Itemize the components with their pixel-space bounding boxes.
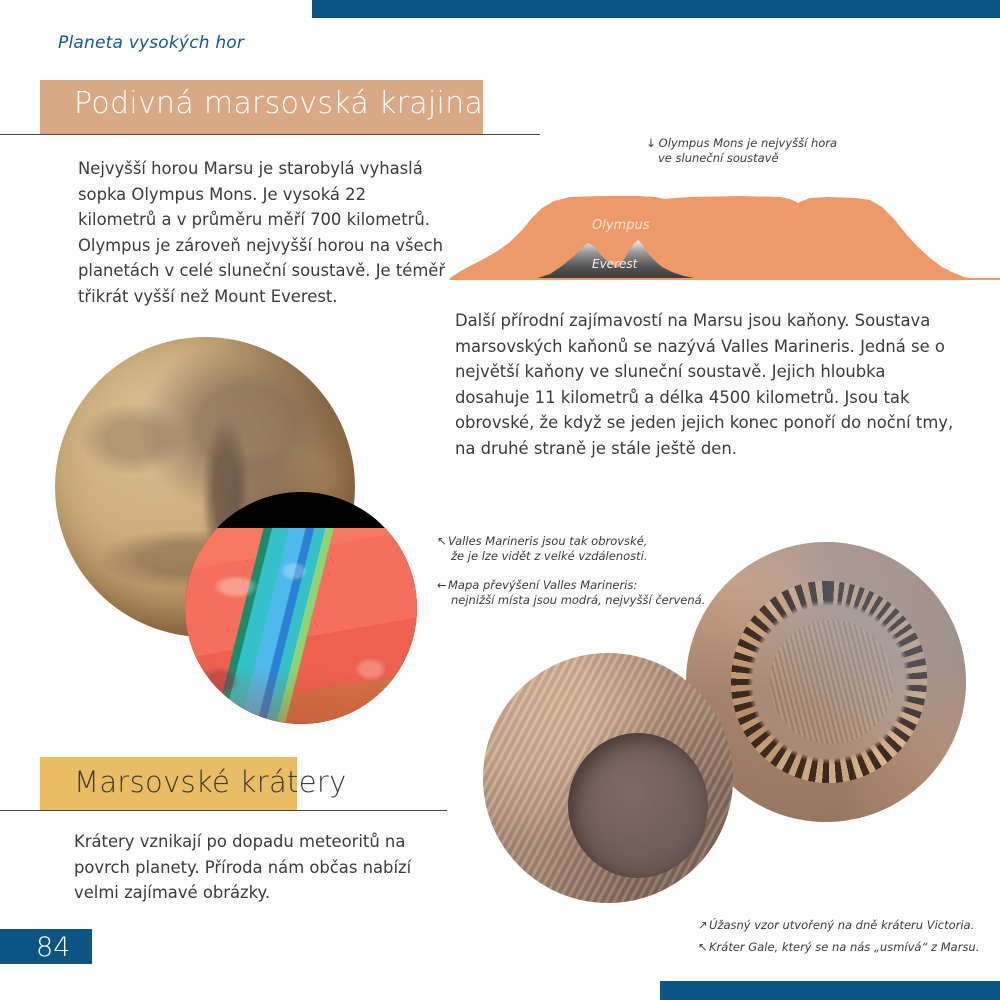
caption-crater-victoria: ↗Úžasný vzor utvořený na dně kráteru Vic… (698, 918, 974, 933)
top-blue-bar (312, 0, 1000, 18)
page-number: 84 (36, 932, 70, 963)
olympus-mountain-label: Olympus (592, 218, 649, 233)
section-heading-landscape: Podivná marsovská krajina (74, 86, 483, 121)
caption-valles-topomap: ←Mapa převýšení Valles Marineris: nejniž… (437, 578, 705, 607)
topo-map-surface (185, 528, 417, 724)
caption-valles-topomap-line2: nejnižší místa jsou modrá, nejvyšší červ… (437, 593, 705, 608)
running-head: Planeta vysokých hor (58, 33, 244, 53)
arrow-up-left-icon: ↖ (437, 534, 448, 549)
caption-valles-visibility: ↖Valles Marineris jsou tak obrovské, že … (437, 534, 648, 563)
olympus-caption-line1: Olympus Mons je nejvyšší hora (659, 136, 837, 150)
paragraph-canyons: Další přírodní zajímavostí na Marsu jsou… (455, 308, 955, 461)
olympus-caption-line2: ve sluneční soustavě (646, 151, 779, 165)
paragraph-craters: Krátery vznikají po dopadu meteoritů na … (74, 829, 454, 906)
crater-gale-basin (568, 733, 708, 878)
valles-marineris-topo-map-image (185, 492, 417, 724)
arrow-left-icon: ← (437, 578, 448, 593)
heading-rule-craters (0, 810, 447, 811)
caption-valles-topomap-line1: Mapa převýšení Valles Marineris: (448, 578, 637, 592)
bottom-blue-bar (660, 981, 1000, 1000)
heading-rule-landscape (0, 134, 540, 135)
arrow-up-right-icon: ↗ (698, 918, 709, 933)
arrow-down-icon: ↓ (646, 136, 656, 150)
crater-gale-image (483, 653, 733, 903)
olympus-mons-profile-diagram (450, 182, 1000, 280)
olympus-diagram-caption: ↓Olympus Mons je nejvyšší hora ve sluneč… (646, 136, 837, 165)
section-heading-craters: Marsovské krátery (74, 765, 347, 799)
caption-crater-gale: ↖Kráter Gale, který se na nás „usmívá“ z… (698, 940, 979, 955)
everest-mountain-label: Everest (592, 257, 637, 271)
caption-crater-gale-text: Kráter Gale, který se na nás „usmívá“ z … (709, 940, 979, 954)
arrow-up-left-icon-2: ↖ (698, 940, 709, 955)
caption-valles-visibility-line1: Valles Marineris jsou tak obrovské, (448, 534, 647, 548)
caption-valles-visibility-line2: že je lze vidět z velké vzdálenosti. (437, 549, 648, 564)
caption-crater-victoria-text: Úžasný vzor utvořený na dně kráteru Vict… (709, 918, 974, 932)
paragraph-olympus: Nejvyšší horou Marsu je starobylá vyhasl… (78, 156, 448, 309)
